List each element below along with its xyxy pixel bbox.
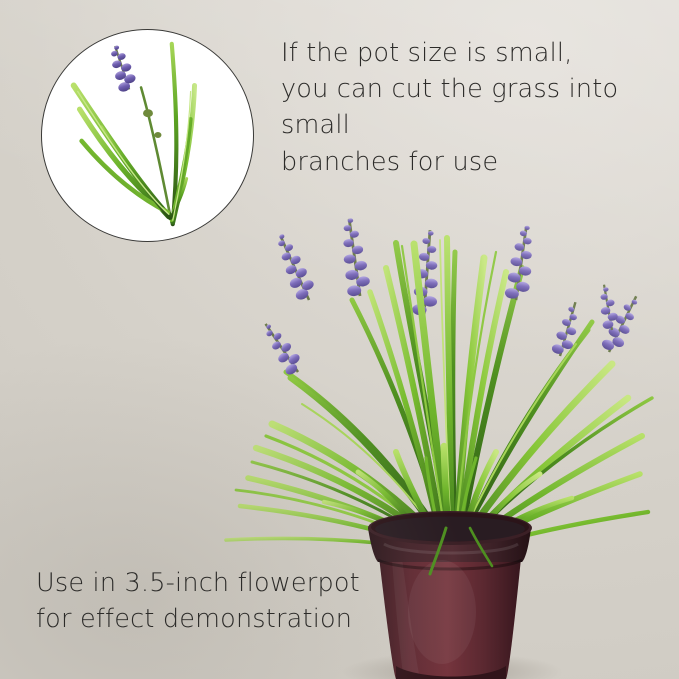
caption-bottom: Use in 3.5-inch flowerpot for effect dem… bbox=[36, 565, 360, 637]
caption-top: If the pot size is small, you can cut th… bbox=[281, 35, 679, 180]
product-image-canvas: If the pot size is small, you can cut th… bbox=[0, 0, 679, 679]
inset-circle-single-branch bbox=[41, 29, 254, 242]
pot-shape bbox=[368, 511, 532, 679]
